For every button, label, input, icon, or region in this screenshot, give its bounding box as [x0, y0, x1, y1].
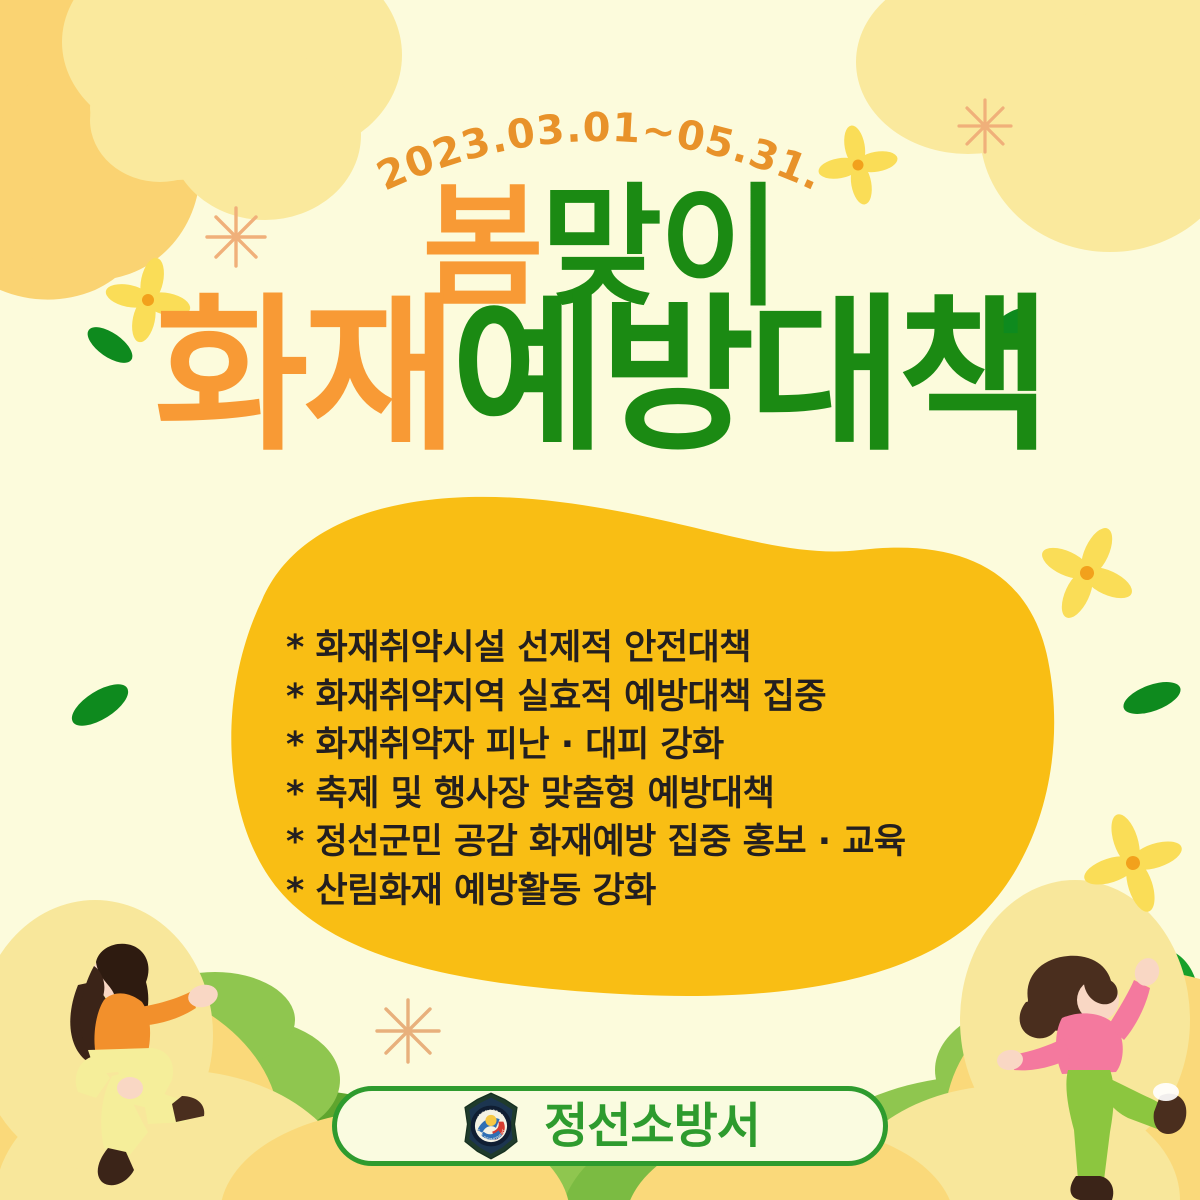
- character-illustration-layer: [0, 0, 1200, 1200]
- agency-name-label: 정선소방서: [544, 1102, 760, 1150]
- agency-badge[interactable]: JEONGSEON FIRE DEPARTMENT 정선소방서: [332, 1086, 888, 1166]
- character-dancing-woman: [996, 955, 1187, 1200]
- poster-canvas: 2023.03.01~05.31. 봄맞이 화재예방대책 * 화재취약시설 선제…: [0, 0, 1200, 1200]
- fire-department-emblem-icon: JEONGSEON FIRE DEPARTMENT: [460, 1092, 522, 1160]
- character-seated-woman: [70, 944, 220, 1185]
